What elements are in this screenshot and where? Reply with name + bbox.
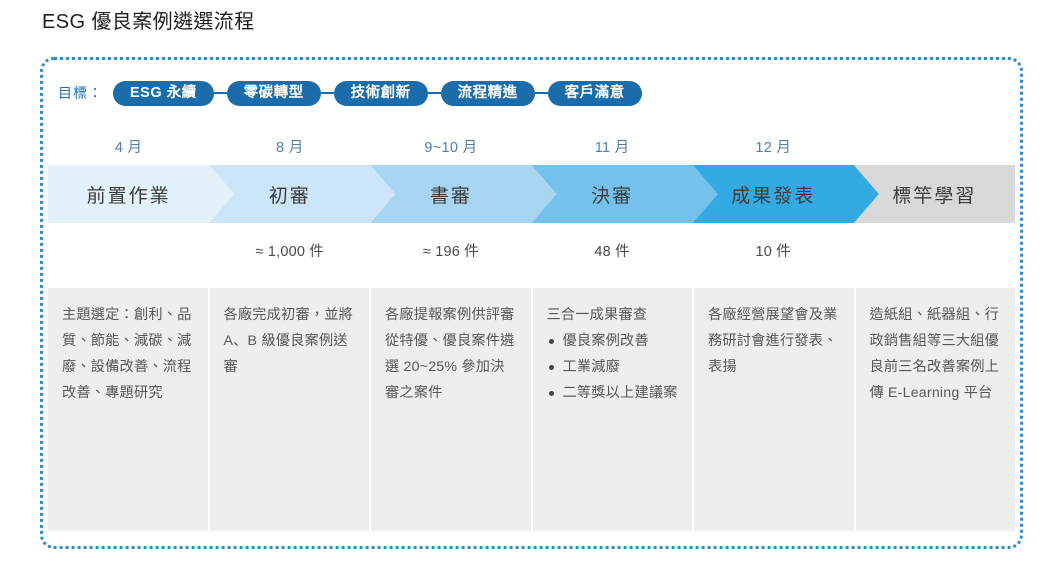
description-panel: 各廠經營展望會及業務研討會進行發表、表揚 [694, 288, 854, 531]
goal-pill-customer: 客戶滿意 [548, 81, 642, 106]
stage-label: 標竿學習 [892, 181, 976, 208]
goal-pill-carbon: 零碳轉型 [227, 81, 321, 106]
chevron-shapes [48, 165, 1015, 223]
description-panel-row: 主題選定：創利、品質、節能、減碳、減廢、設備改善、流程改善、專題研究 各廠完成初… [48, 288, 1015, 531]
month-label: 4 月 [48, 136, 209, 157]
goals-label: 目標： [58, 83, 103, 103]
case-count-row: ≈ 1,000 件 ≈ 196 件 48 件 10 件 [48, 240, 1015, 261]
month-label: 9~10 月 [370, 136, 531, 157]
case-count: 48 件 [532, 240, 693, 261]
case-count [48, 240, 209, 261]
pill-connector-icon [321, 92, 334, 95]
month-label [854, 136, 1015, 157]
description-text: 各廠經營展望會及業務研討會進行發表、表揚 [708, 302, 842, 380]
goals-row: 目標： ESG 永續 零碳轉型 技術創新 流程精進 客戶滿意 [58, 78, 642, 108]
stage-label: 前置作業 [87, 181, 171, 208]
pill-connector-icon [535, 92, 548, 95]
page-title: ESG 優良案例遴選流程 [42, 8, 255, 36]
description-text: 三合一成果審查 [547, 302, 681, 328]
description-bullet-item: 優良案例改善 [547, 328, 681, 354]
description-text: 造紙組、紙器組、行政銷售組等三大組優良前三名改善案例上傳 E-Learning … [870, 302, 1004, 406]
description-bullet-item: 工業減廢 [547, 354, 681, 380]
month-label: 12 月 [693, 136, 854, 157]
goal-pill-technology: 技術創新 [334, 81, 428, 106]
stage-chevron-band: 前置作業 初審 書審 決審 成果發表 標竿學習 [48, 165, 1015, 223]
description-panel: 三合一成果審查 優良案例改善工業減廢二等獎以上建議案 [533, 288, 693, 531]
case-count [854, 240, 1015, 261]
description-panel: 各廠完成初審，並將 A、B 級優良案例送審 [210, 288, 370, 531]
pill-connector-icon [428, 92, 441, 95]
description-bullets: 優良案例改善工業減廢二等獎以上建議案 [547, 328, 681, 406]
goal-pill-esg: ESG 永續 [113, 81, 214, 106]
case-count: ≈ 1,000 件 [209, 240, 370, 261]
stage-label: 書審 [430, 181, 472, 208]
stage-label: 決審 [591, 181, 633, 208]
description-panel: 主題選定：創利、品質、節能、減碳、減廢、設備改善、流程改善、專題研究 [48, 288, 208, 531]
month-label: 8 月 [209, 136, 370, 157]
stage-label: 成果發表 [731, 181, 815, 208]
month-label-row: 4 月 8 月 9~10 月 11 月 12 月 [48, 136, 1015, 157]
goal-pill-process: 流程精進 [441, 81, 535, 106]
description-panel: 各廠提報案例供評審從特優、優良案件遴選 20~25% 參加決審之案件 [371, 288, 531, 531]
case-count: 10 件 [693, 240, 854, 261]
description-text: 主題選定：創利、品質、節能、減碳、減廢、設備改善、流程改善、專題研究 [62, 302, 196, 406]
month-label: 11 月 [532, 136, 693, 157]
description-panel: 造紙組、紙器組、行政銷售組等三大組優良前三名改善案例上傳 E-Learning … [856, 288, 1016, 531]
description-text: 各廠完成初審，並將 A、B 級優良案例送審 [224, 302, 358, 380]
case-count: ≈ 196 件 [370, 240, 531, 261]
stage-label: 初審 [269, 181, 311, 208]
pill-connector-icon [214, 92, 227, 95]
description-bullet-item: 二等獎以上建議案 [547, 380, 681, 406]
description-text: 各廠提報案例供評審從特優、優良案件遴選 20~25% 參加決審之案件 [385, 302, 519, 406]
